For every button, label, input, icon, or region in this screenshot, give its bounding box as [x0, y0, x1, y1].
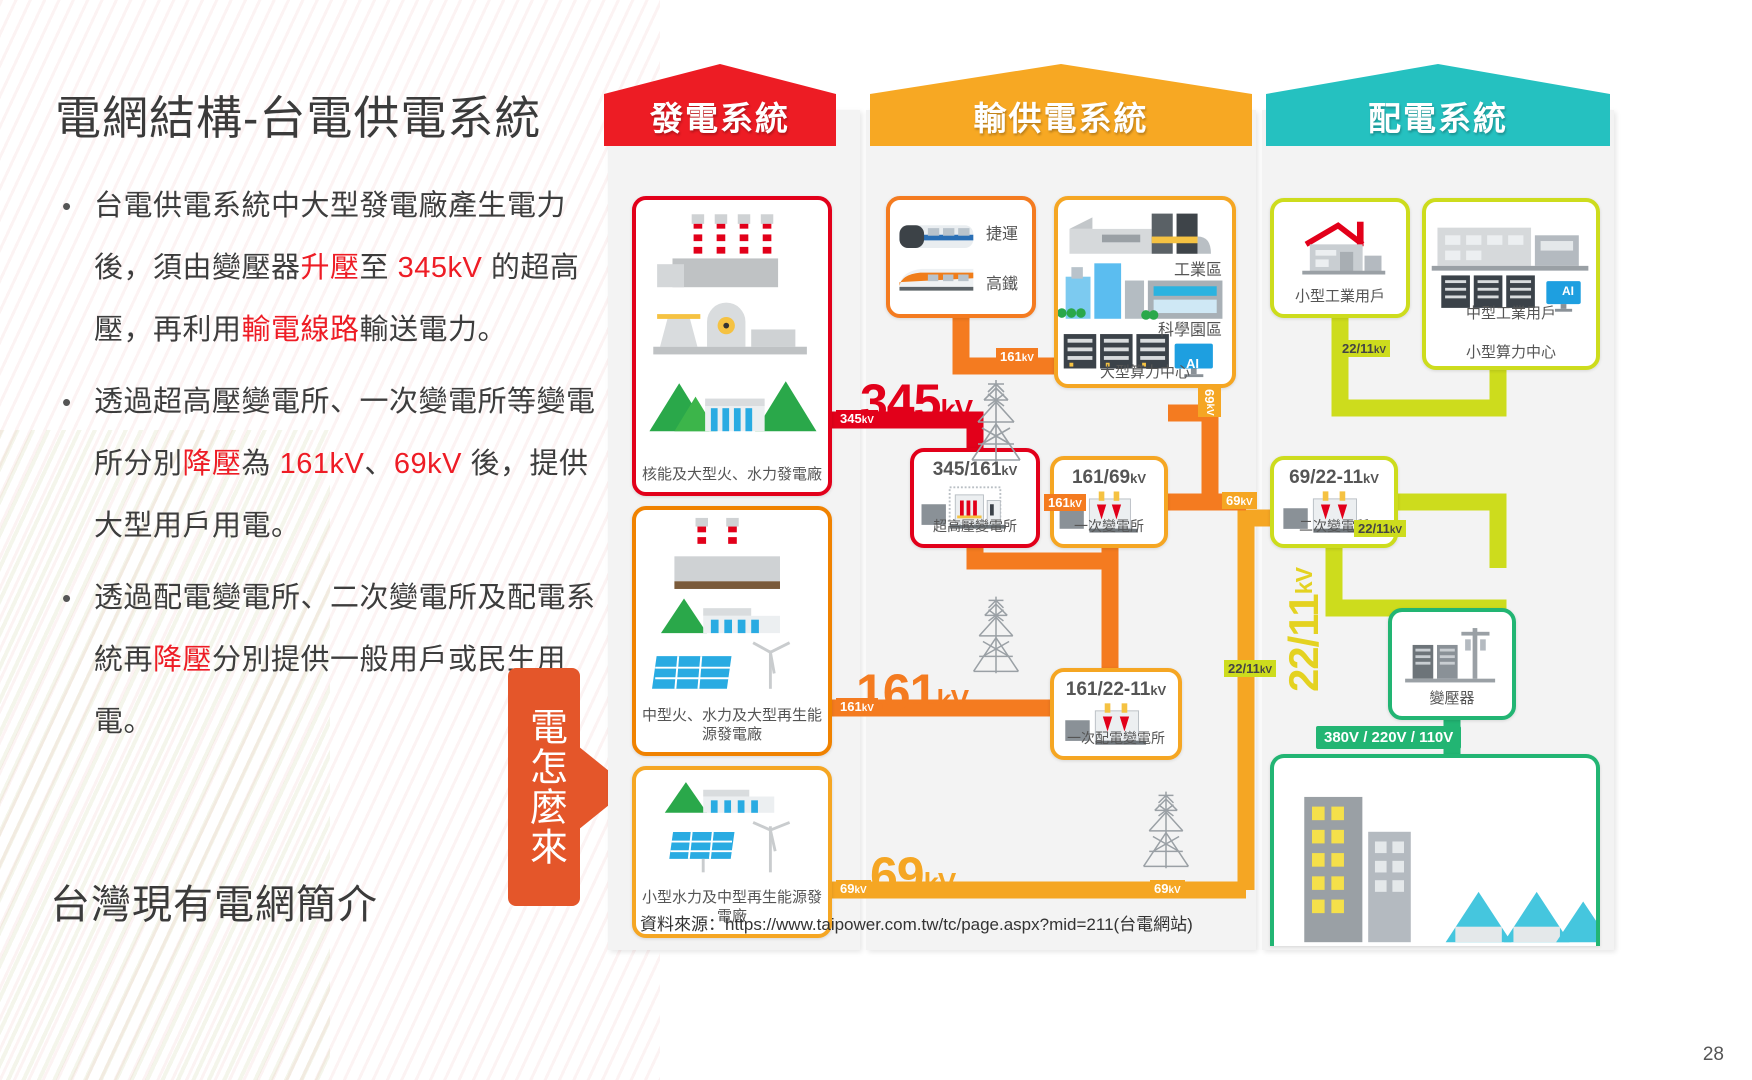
card-caption: 變壓器	[1396, 689, 1508, 708]
voltage-label-69kv: 69kV	[870, 846, 955, 904]
bullet-marker: •	[52, 371, 94, 557]
card-caption: 一次配電變電所	[1058, 729, 1174, 748]
ai-badge: AI	[1186, 356, 1199, 371]
page-title: 電網結構-台電供電系統	[55, 82, 541, 148]
card-residential-buildings[interactable]	[1270, 754, 1600, 946]
pylon-icon	[966, 378, 1026, 462]
card-medium-industrial-customer[interactable]: 中型工業用戶 小型算力中心 AI	[1422, 198, 1600, 370]
card-caption: 中型火、水力及大型再生能源發電廠	[640, 706, 824, 744]
highlighted-term: 降壓	[153, 644, 212, 676]
card-caption: 超高壓變電所	[918, 517, 1032, 536]
vtag-161-top: 161kV	[996, 348, 1038, 365]
card-caption: 小型工業用戶	[1278, 287, 1402, 306]
vtag-2211-top: 22/11kV	[1338, 340, 1390, 357]
vtag-161-low: 161kV	[836, 698, 878, 715]
secondary-ratio: 69/22-11kV	[1274, 467, 1394, 489]
banner-generation-label: 發電系統	[604, 92, 836, 140]
label-medium-industrial: 中型工業用戶	[1426, 302, 1596, 323]
highlighted-term: 345kV	[398, 252, 483, 284]
card-caption: 核能及大型火、水力發電廠	[640, 465, 824, 484]
banner-transmission-label: 輸供電系統	[870, 92, 1252, 140]
banner-generation: 發電系統	[604, 64, 836, 146]
vtag-2211-mid: 22/11kV	[1354, 520, 1406, 537]
card-ehv-substation[interactable]: 345/161kV 超高壓變電所	[910, 448, 1040, 548]
highlighted-term: 161kV	[280, 448, 365, 480]
card-industrial-customers[interactable]: 工業區 科學園區 大型算力中心 AI	[1054, 196, 1236, 388]
pylon-icon	[968, 593, 1024, 675]
label-hsr: 高鐵	[986, 270, 1018, 294]
card-rail-customers[interactable]: 捷運 高鐵	[886, 196, 1036, 318]
highlighted-term: 降壓	[183, 448, 242, 480]
banner-distribution-label: 配電系統	[1266, 92, 1610, 140]
dsub-ratio: 161/22-11kV	[1054, 679, 1178, 701]
slide-subtitle: 台灣現有電網簡介	[50, 872, 378, 930]
bullet-text: 台電供電系統中大型發電廠產生電力後，須由變壓器升壓至 345kV 的超高壓，再利…	[94, 175, 597, 361]
final-voltage-tag: 380V / 220V / 110V	[1316, 726, 1461, 749]
ehv-ratio: 345/161kV	[914, 459, 1036, 481]
highlighted-term: 升壓	[301, 252, 360, 284]
label-large-compute-center: 大型算力中心	[1058, 361, 1232, 382]
bullet-marker: •	[52, 567, 94, 753]
bullet-item: •透過超高壓變電所、一次變電所等變電所分別降壓為 161kV、69kV 後，提供…	[52, 371, 597, 557]
vtag-69-vertical: 69kV	[1198, 388, 1221, 417]
banner-distribution: 配電系統	[1266, 64, 1610, 146]
bullet-marker: •	[52, 175, 94, 361]
pylon-icon	[1138, 788, 1194, 870]
label-industrial-zone: 工業區	[1174, 256, 1222, 280]
page-number: 28	[1703, 1044, 1724, 1066]
power-grid-diagram: 發電系統 輸供電系統 配電系統	[598, 48, 1748, 958]
vtag-69-bottom-left: 69kV	[836, 880, 871, 897]
vtag-2211-low: 22/11kV	[1224, 660, 1276, 677]
bullet-item: •台電供電系統中大型發電廠產生電力後，須由變壓器升壓至 345kV 的超高壓，再…	[52, 175, 597, 361]
card-medium-power-plant[interactable]: 中型火、水力及大型再生能源發電廠	[632, 506, 832, 756]
label-science-park: 科學園區	[1158, 316, 1222, 340]
bullet-text: 透過超高壓變電所、一次變電所等變電所分別降壓為 161kV、69kV 後，提供大…	[94, 371, 597, 557]
card-small-industrial-customer[interactable]: 小型工業用戶	[1270, 198, 1410, 318]
card-primary-distribution-substation[interactable]: 161/22-11kV 一次配電變電所	[1050, 668, 1182, 760]
callout-badge: 電怎麼來	[508, 668, 580, 906]
plain-text: 、	[364, 448, 394, 480]
highlighted-term: 69kV	[394, 448, 462, 480]
source-citation: 資料來源：https://www.taipower.com.tw/tc/page…	[640, 910, 1193, 935]
vtag-69-bottom-right: 69kV	[1150, 880, 1185, 897]
banner-transmission: 輸供電系統	[870, 64, 1252, 146]
plain-text: 為	[242, 448, 280, 480]
plain-text: 至	[360, 252, 398, 284]
label-metro: 捷運	[986, 220, 1018, 244]
vtag-69-right: 69kV	[1222, 492, 1257, 509]
vtag-161-mid: 161kV	[1044, 494, 1086, 511]
plain-text: 輸送電力。	[360, 314, 508, 346]
voltage-label-2211kv: 22/11kV	[1280, 568, 1328, 692]
label-small-compute-center: 小型算力中心	[1426, 341, 1596, 362]
card-caption: 一次變電所	[1058, 517, 1160, 536]
vtag-345: 345kV	[836, 410, 878, 427]
callout-label: 電怎麼來	[518, 707, 571, 867]
card-transformer[interactable]: 變壓器	[1388, 608, 1516, 720]
primary-ratio: 161/69kV	[1054, 467, 1164, 489]
ai-badge: AI	[1562, 284, 1574, 298]
card-large-power-plant[interactable]: 核能及大型火、水力發電廠	[632, 196, 832, 496]
highlighted-term: 輸電線路	[242, 314, 360, 346]
